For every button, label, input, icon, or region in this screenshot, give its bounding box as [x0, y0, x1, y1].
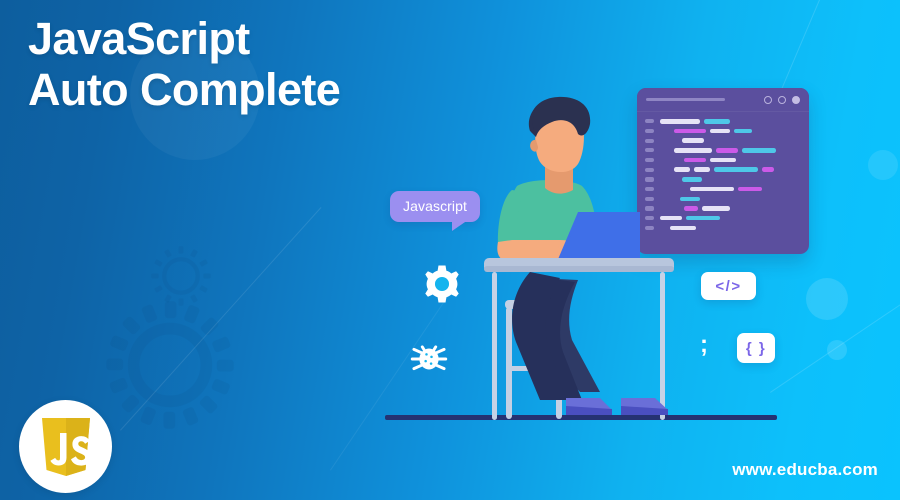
floor-line [385, 415, 777, 420]
curly-braces-icon[interactable]: { } [737, 333, 775, 363]
semicolon-label: ; [700, 331, 708, 358]
speech-bubble: Javascript [390, 191, 480, 222]
curly-braces-label: { } [746, 340, 766, 357]
shoes [566, 398, 668, 415]
site-url: www.educba.com [732, 460, 878, 480]
bug-icon[interactable] [408, 341, 450, 377]
javascript-logo [19, 400, 112, 493]
banner: JavaScript Auto Complete [0, 0, 900, 500]
code-tag-label: </> [715, 278, 741, 295]
semicolon-icon: ; [700, 333, 708, 357]
head [529, 97, 590, 172]
person-legs [512, 272, 600, 400]
gear-icon[interactable] [420, 262, 464, 306]
speech-bubble-label: Javascript [403, 198, 467, 214]
desk-top-shadow [484, 266, 674, 272]
code-tag-icon[interactable]: </> [701, 272, 756, 300]
developer-illustration [0, 0, 900, 500]
